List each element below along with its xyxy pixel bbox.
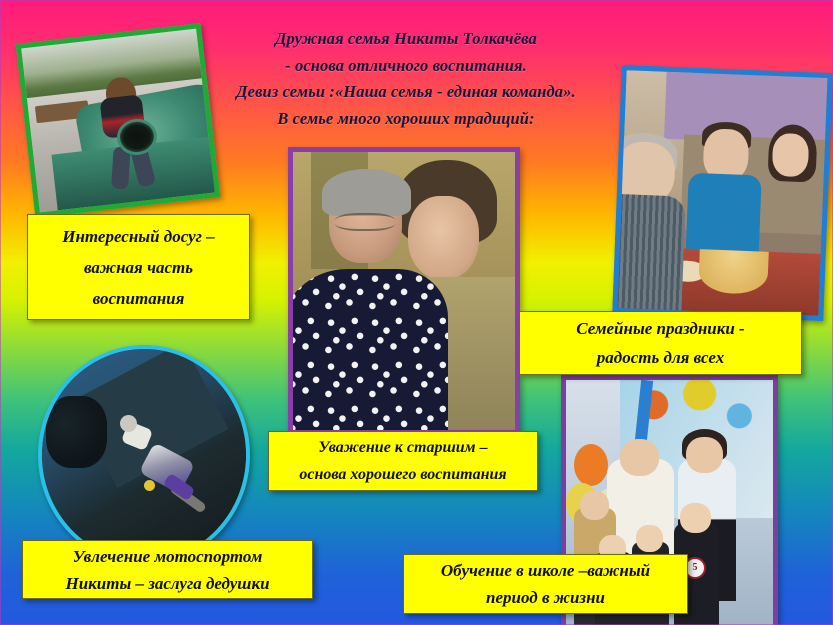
- caption-holidays-line-2: радость для всех: [597, 343, 724, 372]
- caption-respect-line-1: Уважение к старшим –: [318, 434, 487, 461]
- presentation-slide: Дружная семья Никиты Толкачёва - основа …: [0, 0, 833, 625]
- caption-school-education: Обучение в школе –важный период в жизни: [403, 554, 688, 614]
- photo-school-man-head: [620, 439, 659, 476]
- caption-leisure-line-1: Интересный досуг –: [62, 221, 214, 252]
- page-title: Дружная семья Никиты Толкачёва - основа …: [196, 26, 616, 132]
- caption-motorsport-hobby: Увлечение мотоспортом Никиты – заслуга д…: [22, 540, 313, 599]
- caption-moto-line-2: Никиты – заслуга дедушки: [65, 570, 269, 597]
- photo-grandma-glasses: [335, 213, 395, 231]
- caption-leisure-line-3: воспитания: [93, 283, 185, 314]
- caption-holidays-line-1: Семейные праздники -: [576, 314, 744, 343]
- title-line-3: Девиз семьи :«Наша семья - единая команд…: [196, 79, 616, 106]
- photo-table-woman-torso: [612, 193, 686, 310]
- photo-boy-on-tank: [16, 23, 221, 218]
- title-line-1: Дружная семья Никиты Толкачёва: [196, 26, 616, 53]
- photo-school-woman-head: [686, 437, 723, 474]
- caption-respect-line-2: основа хорошего воспитания: [299, 461, 506, 488]
- caption-interesting-leisure: Интересный досуг – важная часть воспитан…: [27, 214, 250, 320]
- photo-school-child-4-head: [680, 503, 711, 533]
- photo-motorsport-oval: [38, 345, 250, 565]
- photo-moto-trees: [46, 396, 107, 468]
- title-line-2: - основа отличного воспитания.: [196, 53, 616, 80]
- title-line-4: В семье много хороших традиций:: [196, 106, 616, 133]
- photo-school-child-1-head: [580, 491, 609, 521]
- photo-moto-rider-helmet: [120, 415, 137, 432]
- caption-family-holidays: Семейные праздники - радость для всех: [519, 311, 802, 375]
- caption-respect-for-elders: Уважение к старшим – основа хорошего вос…: [268, 431, 538, 491]
- photo-school-child-3-head: [636, 525, 663, 552]
- caption-school-line-2: период в жизни: [486, 584, 605, 611]
- photo-grandma-hair: [322, 169, 411, 216]
- photo-table-girl-head: [771, 133, 809, 177]
- caption-moto-line-1: Увлечение мотоспортом: [73, 543, 263, 570]
- photo-family-at-table: [612, 65, 832, 321]
- photo-grandmother-and-grandson: [288, 147, 520, 435]
- photo-grandma-boy-head: [408, 196, 479, 279]
- caption-leisure-line-2: важная часть: [84, 252, 193, 283]
- photo-grandma-polka-dress: [288, 269, 448, 430]
- caption-school-line-1: Обучение в школе –важный: [441, 557, 650, 584]
- photo-school-balloon-orange: [574, 444, 608, 486]
- photo-tank-boy-leg-left: [112, 146, 132, 189]
